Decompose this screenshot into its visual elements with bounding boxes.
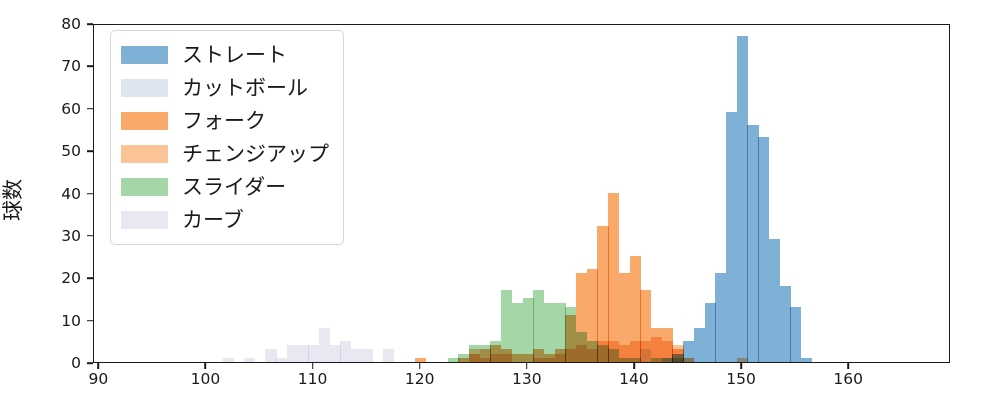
x-axis-tick-mark — [205, 363, 207, 369]
y-axis-tick-mark — [87, 150, 93, 152]
histogram-bar — [705, 303, 716, 362]
histogram-bar — [608, 349, 619, 362]
x-axis-tick-label: 120 — [405, 370, 435, 388]
histogram-bar — [608, 193, 619, 363]
histogram-bar — [308, 345, 319, 362]
histogram-bar — [769, 239, 780, 362]
y-axis-tick-label: 70 — [41, 57, 81, 75]
y-axis-tick-label: 50 — [41, 142, 81, 160]
y-axis-tick-label: 80 — [41, 15, 81, 33]
y-axis-tick-mark — [87, 66, 93, 68]
histogram-bar — [630, 358, 641, 362]
histogram-bar — [480, 345, 491, 362]
x-axis-tick-label: 160 — [833, 370, 863, 388]
x-axis-tick-mark — [847, 363, 849, 369]
histogram-bar — [576, 332, 587, 362]
histogram-bar — [298, 345, 309, 362]
legend-label: フォーク — [182, 111, 266, 132]
histogram-bar — [362, 349, 373, 362]
histogram-bar — [672, 358, 683, 362]
y-axis-tick-label: 10 — [41, 312, 81, 330]
histogram-bar — [490, 341, 501, 362]
x-axis-tick-mark — [740, 363, 742, 369]
legend-item[interactable]: フォーク — [121, 106, 329, 136]
histogram-bar — [651, 358, 662, 362]
histogram-bar — [801, 358, 812, 362]
histogram-bar — [662, 341, 673, 362]
x-axis-tick-mark — [419, 363, 421, 369]
legend-item[interactable]: カーブ — [121, 205, 329, 235]
legend-item[interactable]: スライダー — [121, 172, 329, 202]
histogram-bar — [276, 358, 287, 362]
histogram-bar — [747, 125, 758, 362]
legend-color-swatch — [121, 79, 168, 97]
histogram-bar — [469, 345, 480, 362]
x-axis-tick-label: 100 — [191, 370, 221, 388]
x-axis-tick-mark — [633, 363, 635, 369]
histogram-bar — [683, 358, 694, 362]
y-axis-tick-mark — [87, 235, 93, 237]
legend-color-swatch — [121, 46, 168, 64]
histogram-bar — [737, 36, 748, 362]
histogram-bar — [458, 354, 469, 362]
x-axis-tick-label: 150 — [726, 370, 756, 388]
legend-color-swatch — [121, 112, 168, 130]
x-axis-tick-label: 130 — [512, 370, 542, 388]
histogram-bar — [533, 290, 544, 362]
legend-label: スライダー — [182, 177, 286, 198]
histogram-bar — [790, 307, 801, 362]
y-axis-tick-label: 30 — [41, 227, 81, 245]
histogram-bar — [726, 112, 737, 362]
histogram-bar — [715, 273, 726, 362]
histogram-bar — [780, 286, 791, 362]
y-axis-tick-mark — [87, 320, 93, 322]
y-axis-tick-label: 0 — [41, 354, 81, 372]
legend-item[interactable]: カットボール — [121, 73, 329, 103]
histogram-bar — [694, 328, 705, 362]
histogram-bar — [587, 341, 598, 362]
legend-color-swatch — [121, 178, 168, 196]
histogram-bar — [383, 349, 394, 362]
y-axis-tick-label: 60 — [41, 100, 81, 118]
y-axis-tick-mark — [87, 277, 93, 279]
histogram-bar — [512, 303, 523, 362]
x-axis-tick-label: 140 — [619, 370, 649, 388]
x-axis-tick-mark — [526, 363, 528, 369]
histogram-bar — [523, 298, 534, 362]
x-axis-tick-label: 90 — [88, 370, 108, 388]
legend-label: ストレート — [182, 45, 287, 66]
histogram-bar — [619, 358, 630, 362]
histogram-bar — [351, 349, 362, 362]
y-axis-tick-mark — [87, 193, 93, 195]
legend-color-swatch — [121, 211, 168, 229]
legend-color-swatch — [121, 145, 168, 163]
y-axis-tick-mark — [87, 108, 93, 110]
histogram-bar — [265, 349, 276, 362]
y-axis-title: 球数 — [0, 179, 27, 221]
x-axis-tick-mark — [98, 363, 100, 369]
histogram-bar — [244, 358, 255, 362]
histogram-bar — [501, 290, 512, 362]
legend[interactable]: ストレートカットボールフォークチェンジアップスライダーカーブ — [110, 30, 344, 245]
histogram-bar — [287, 345, 298, 362]
legend-item[interactable]: チェンジアップ — [121, 139, 329, 169]
histogram-bar — [340, 341, 351, 362]
y-axis-tick-mark — [87, 362, 93, 364]
histogram-bar — [330, 345, 341, 362]
histogram-bar — [448, 358, 459, 362]
legend-label: カーブ — [182, 210, 244, 231]
x-axis-tick-label: 110 — [298, 370, 328, 388]
y-axis-tick-label: 40 — [41, 185, 81, 203]
x-axis-tick-mark — [312, 363, 314, 369]
legend-label: チェンジアップ — [182, 144, 329, 165]
legend-item[interactable]: ストレート — [121, 40, 329, 70]
histogram-chart-root: 球数 ストレートカットボールフォークチェンジアップスライダーカーブ 010203… — [0, 0, 1000, 400]
y-axis-tick-label: 20 — [41, 269, 81, 287]
histogram-bar — [415, 358, 426, 362]
histogram-bar — [555, 303, 566, 362]
histogram-bar — [565, 307, 576, 362]
legend-label: カットボール — [182, 78, 308, 99]
histogram-bar — [544, 303, 555, 362]
histogram-bar — [640, 341, 651, 362]
histogram-bar — [223, 358, 234, 362]
histogram-bar — [319, 328, 330, 362]
histogram-bar — [597, 345, 608, 362]
y-axis-tick-mark — [87, 23, 93, 25]
histogram-bar — [758, 137, 769, 362]
histogram-bar — [737, 358, 748, 362]
